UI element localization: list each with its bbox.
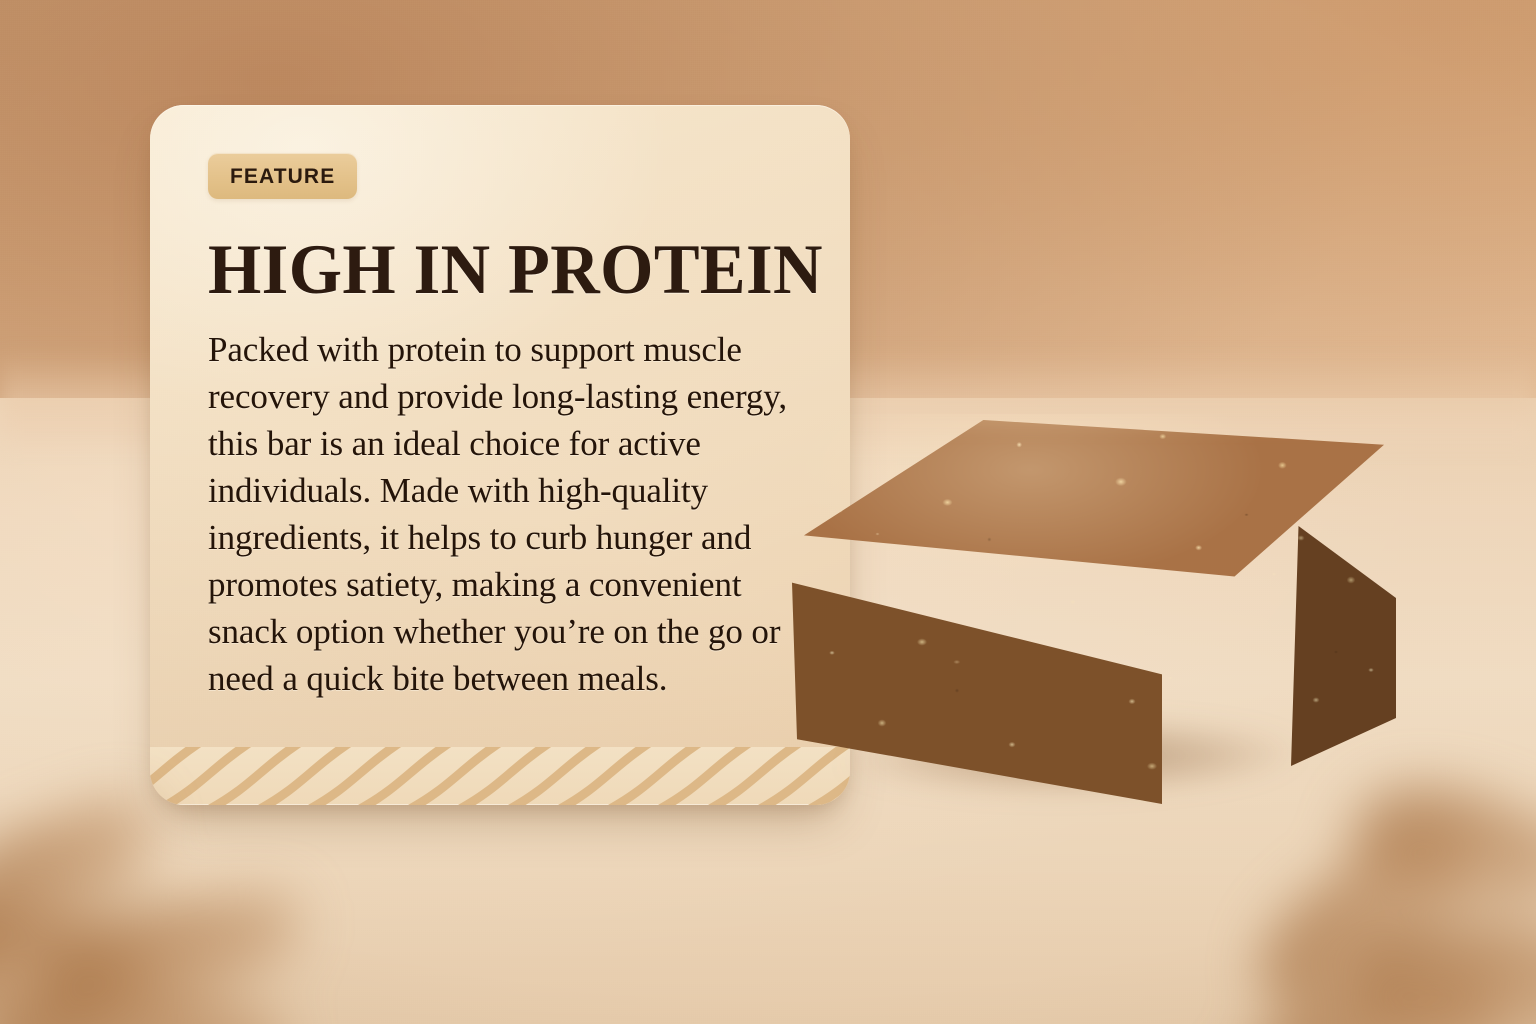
protein-bar-product: [786, 414, 1396, 814]
feature-badge[interactable]: FEATURE: [208, 153, 357, 199]
feature-card[interactable]: FEATURE HIGH IN PROTEIN Packed with prot…: [150, 105, 850, 805]
card-body-text: Packed with protein to support muscle re…: [208, 326, 800, 703]
scene-root: FEATURE HIGH IN PROTEIN Packed with prot…: [0, 0, 1536, 1024]
card-content: FEATURE HIGH IN PROTEIN Packed with prot…: [150, 105, 850, 703]
wave-pattern-svg: [150, 747, 850, 805]
wave-pattern-band: [150, 747, 850, 805]
page-title: HIGH IN PROTEIN: [208, 235, 828, 306]
product-geometry: [786, 414, 1396, 814]
